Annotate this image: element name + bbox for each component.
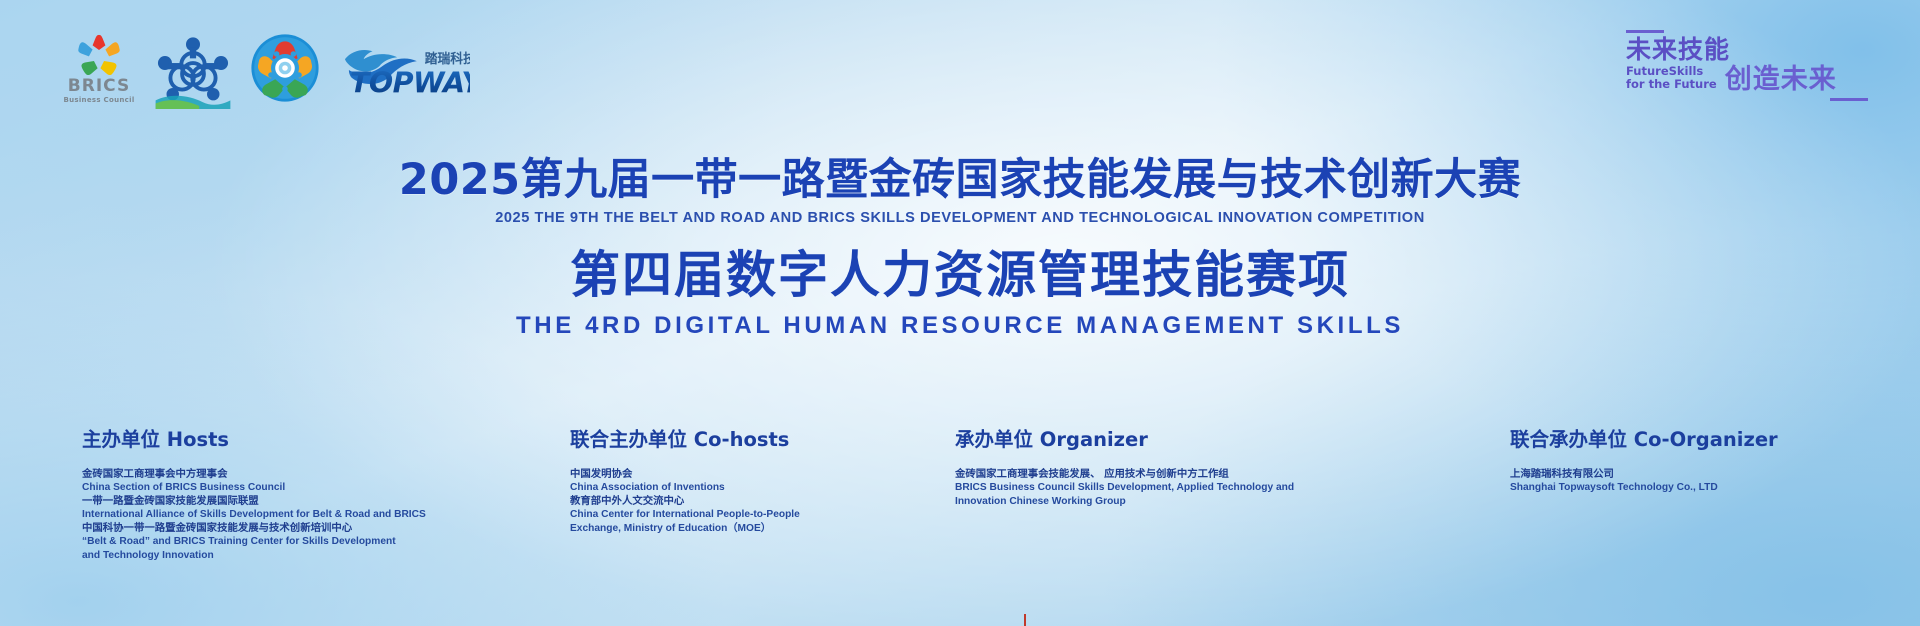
sponsor-logo-row: BRICS Business Council [62,33,470,113]
slogan-cn-bottom: 创造未来 [1725,66,1837,93]
organizer-line-list: 金砖国家工商理事会技能发展、 应用技术与创新中方工作组 BRICS Busine… [955,468,1385,509]
slogan-en: FutureSkills for the Future [1626,65,1717,93]
organizer-heading: 联合主办单位 Co-hosts [570,430,890,450]
organizer-line: “Belt & Road” and BRICS Training Center … [82,535,502,549]
organizer-column-coorganizer: 联合承办单位 Co-Organizer 上海踏瑞科技有限公司 Shanghai … [1510,430,1840,495]
organizer-line-list: 中国发明协会 China Association of Inventions 教… [570,468,890,536]
brics-subtitle: Business Council [63,97,134,104]
cast-training-center-logo [250,33,320,108]
alliance-emblem-icon [154,35,232,109]
topway-wordmark-icon: TOPWAY 踏瑞科技 [342,41,470,101]
cast-emblem-icon [250,33,320,103]
slogan-cn-top: 未来技能 [1626,37,1868,63]
organizer-heading: 承办单位 Organizer [955,430,1385,450]
organizer-line: International Alliance of Skills Develop… [82,508,502,522]
organizer-line: 金砖国家工商理事会技能发展、 应用技术与创新中方工作组 [955,468,1385,482]
svg-text:TOPWAY: TOPWAY [350,66,470,100]
organizer-line: 金砖国家工商理事会中方理事会 [82,468,502,482]
belt-and-road-skills-alliance-logo [154,35,232,114]
organizer-column-hosts: 主办单位 Hosts 金砖国家工商理事会中方理事会 China Section … [82,430,502,563]
brics-star-icon [76,33,122,77]
event-banner: BRICS Business Council [0,0,1920,626]
organizer-heading: 联合承办单位 Co-Organizer [1510,430,1840,450]
main-title-en: 2025 THE 9TH THE BELT AND ROAD AND BRICS… [0,210,1920,226]
organizer-line: Shanghai Topwaysoft Technology Co., LTD [1510,481,1840,495]
organizer-line-list: 金砖国家工商理事会中方理事会 China Section of BRICS Bu… [82,468,502,563]
organizer-columns: 主办单位 Hosts 金砖国家工商理事会中方理事会 China Section … [0,430,1920,600]
organizer-line: 教育部中外人文交流中心 [570,495,890,509]
title-block: 2025第九届一带一路暨金砖国家技能发展与技术创新大赛 2025 THE 9TH… [0,158,1920,340]
organizer-line: BRICS Business Council Skills Developmen… [955,481,1385,495]
organizer-line-list: 上海踏瑞科技有限公司 Shanghai Topwaysoft Technolog… [1510,468,1840,495]
organizer-line: 上海踏瑞科技有限公司 [1510,468,1840,482]
organizer-column-organizer: 承办单位 Organizer 金砖国家工商理事会技能发展、 应用技术与创新中方工… [955,430,1385,508]
brics-wordmark: BRICS [68,78,130,95]
sub-title-en: THE 4RD DIGITAL HUMAN RESOURCE MANAGEMEN… [0,312,1920,340]
slogan-top-rule [1626,30,1664,33]
organizer-line: China Center for International People-to… [570,508,890,522]
organizer-line: 一带一路暨金砖国家技能发展国际联盟 [82,495,502,509]
organizer-line: China Association of Inventions [570,481,890,495]
futureskills-slogan-block: 未来技能 FutureSkills for the Future 创造未来 [1622,30,1868,101]
svg-text:踏瑞科技: 踏瑞科技 [425,51,470,67]
organizer-line: 中国科协一带一路暨金砖国家技能发展与技术创新培训中心 [82,522,502,536]
organizer-line: 中国发明协会 [570,468,890,482]
organizer-column-cohosts: 联合主办单位 Co-hosts 中国发明协会 China Association… [570,430,890,535]
main-title-cn: 2025第九届一带一路暨金砖国家技能发展与技术创新大赛 [0,158,1920,204]
organizer-line: Innovation Chinese Working Group [955,495,1385,509]
sub-title-cn: 第四届数字人力资源管理技能赛项 [0,248,1920,302]
brics-business-council-logo: BRICS Business Council [62,33,136,104]
organizer-heading: 主办单位 Hosts [82,430,502,450]
organizer-line: China Section of BRICS Business Council [82,481,502,495]
topway-logo: TOPWAY 踏瑞科技 [342,41,470,106]
organizer-line: and Technology Innovation [82,549,502,563]
bottom-center-marker [1024,614,1026,626]
organizer-line: Exchange, Ministry of Education（MOE） [570,522,890,536]
slogan-bottom-rule [1830,98,1868,101]
